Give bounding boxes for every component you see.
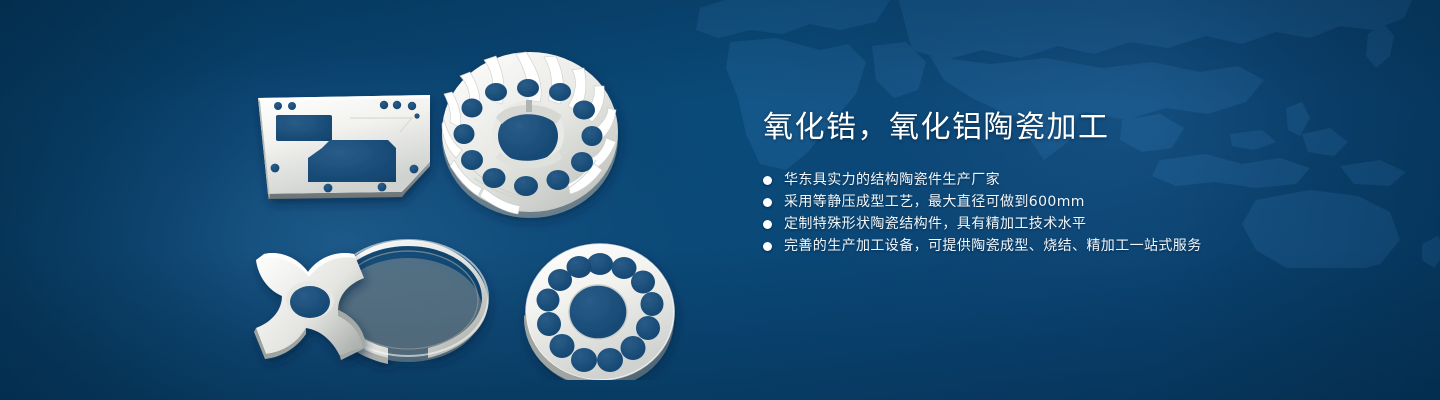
ceramic-perforated-disc [524,244,674,380]
feature-text: 采用等静压成型工艺，最大直径可做到600mm [784,191,1085,213]
ceramic-products-image [230,40,700,380]
list-item: 完善的生产加工设备，可提供陶瓷成型、烧结、精加工一站式服务 [763,235,1323,257]
list-item: 采用等静压成型工艺，最大直径可做到600mm [763,191,1323,213]
feature-text: 完善的生产加工设备，可提供陶瓷成型、烧结、精加工一站式服务 [784,235,1202,257]
feature-list: 华东具实力的结构陶瓷件生产厂家 采用等静压成型工艺，最大直径可做到600mm 定… [763,169,1323,257]
list-item: 定制特殊形状陶瓷结构件，具有精加工技术水平 [763,213,1323,235]
feature-text: 定制特殊形状陶瓷结构件，具有精加工技术水平 [784,213,1086,235]
bullet-dot-icon [763,198,772,207]
list-item: 华东具实力的结构陶瓷件生产厂家 [763,169,1323,191]
banner-headline: 氧化锆，氧化铝陶瓷加工 [763,108,1323,148]
banner-copy: 氧化锆，氧化铝陶瓷加工 华东具实力的结构陶瓷件生产厂家 采用等静压成型工艺，最大… [763,108,1323,257]
bullet-dot-icon [763,176,772,185]
bullet-dot-icon [763,242,772,251]
ceramic-impeller-vaned-disc [442,52,618,218]
promo-banner: 氧化锆，氧化铝陶瓷加工 华东具实力的结构陶瓷件生产厂家 采用等静压成型工艺，最大… [0,0,1440,400]
feature-text: 华东具实力的结构陶瓷件生产厂家 [784,169,1000,191]
ceramic-plate-rectangular [258,95,430,199]
bullet-dot-icon [763,220,772,229]
